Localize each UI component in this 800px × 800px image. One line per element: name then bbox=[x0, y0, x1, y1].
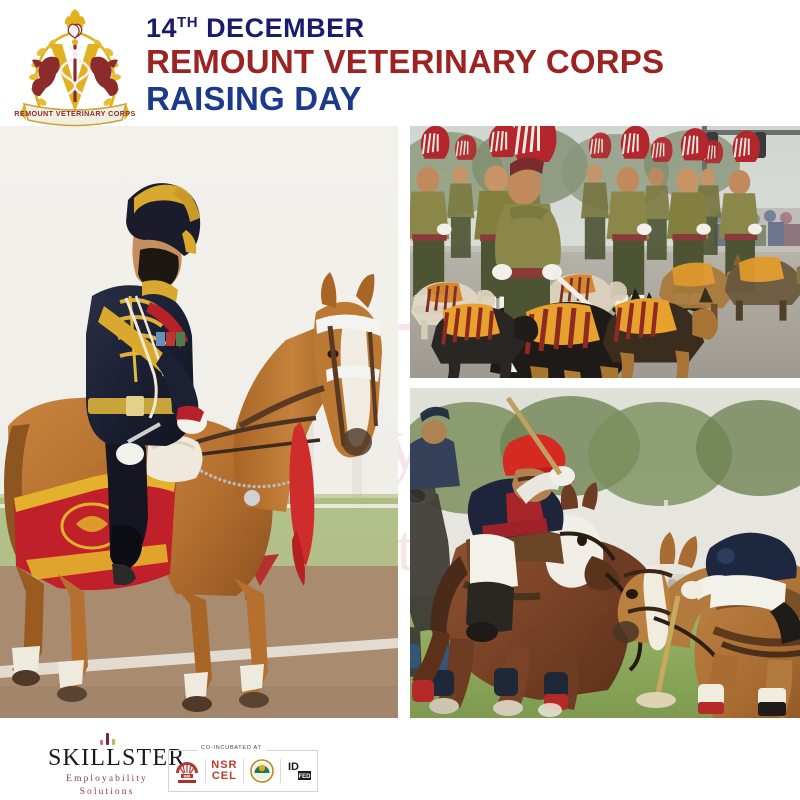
remount-veterinary-corps-crest: REMOUNT VETERINARY CORPS bbox=[14, 6, 136, 128]
photo-ceremonial-horse-rider bbox=[0, 126, 398, 718]
idfed-logo: ID FED bbox=[281, 751, 317, 791]
co-incubated-box: CO-INCUBATED AT IIMB NSR C bbox=[168, 750, 318, 792]
iimb-label: IIMB bbox=[184, 774, 191, 778]
photo-polo-match bbox=[410, 388, 800, 718]
crest-banner-text: REMOUNT VETERINARY CORPS bbox=[14, 109, 135, 118]
skillster-tagline-line-1: Employability bbox=[48, 773, 166, 786]
poster-footer: SKILLSTER Employability Solutions www.sk… bbox=[0, 720, 800, 800]
header-titles: 14TH DECEMBER REMOUNT VETERINARY CORPS R… bbox=[146, 14, 664, 118]
co-incubated-caption: CO-INCUBATED AT bbox=[197, 745, 266, 751]
photo-army-dog-parade bbox=[410, 126, 800, 378]
nsrcel-logo: NSR CEL bbox=[206, 751, 242, 791]
event-date-line: 14TH DECEMBER bbox=[146, 14, 664, 43]
event-date-month: DECEMBER bbox=[206, 13, 365, 43]
skillster-tagline-line-2: Solutions bbox=[48, 786, 166, 799]
skillster-brand-logo: SKILLSTER Employability Solutions bbox=[48, 733, 166, 799]
poster-canvas: SKILLSTER Employability Solutions bbox=[0, 0, 800, 800]
skillster-wordmark: SKILLSTER bbox=[48, 746, 166, 770]
skillster-logo-mark bbox=[48, 733, 166, 745]
iimb-logo: IIMB bbox=[169, 751, 205, 791]
idfed-label-line-1: ID bbox=[288, 761, 299, 773]
event-title-line-2: RAISING DAY bbox=[146, 81, 664, 118]
event-date-ordinal: TH bbox=[177, 14, 198, 31]
event-date-day: 14 bbox=[146, 13, 177, 43]
poster-header: REMOUNT VETERINARY CORPS 14TH DECEMBER R… bbox=[0, 0, 800, 126]
skillster-tagline: Employability Solutions bbox=[48, 773, 166, 799]
partner-circle-logo bbox=[244, 751, 280, 791]
idfed-label-line-2: FED bbox=[298, 774, 311, 780]
event-title-line-1: REMOUNT VETERINARY CORPS bbox=[146, 44, 664, 81]
nsrcel-label-line-2: CEL bbox=[211, 771, 237, 782]
